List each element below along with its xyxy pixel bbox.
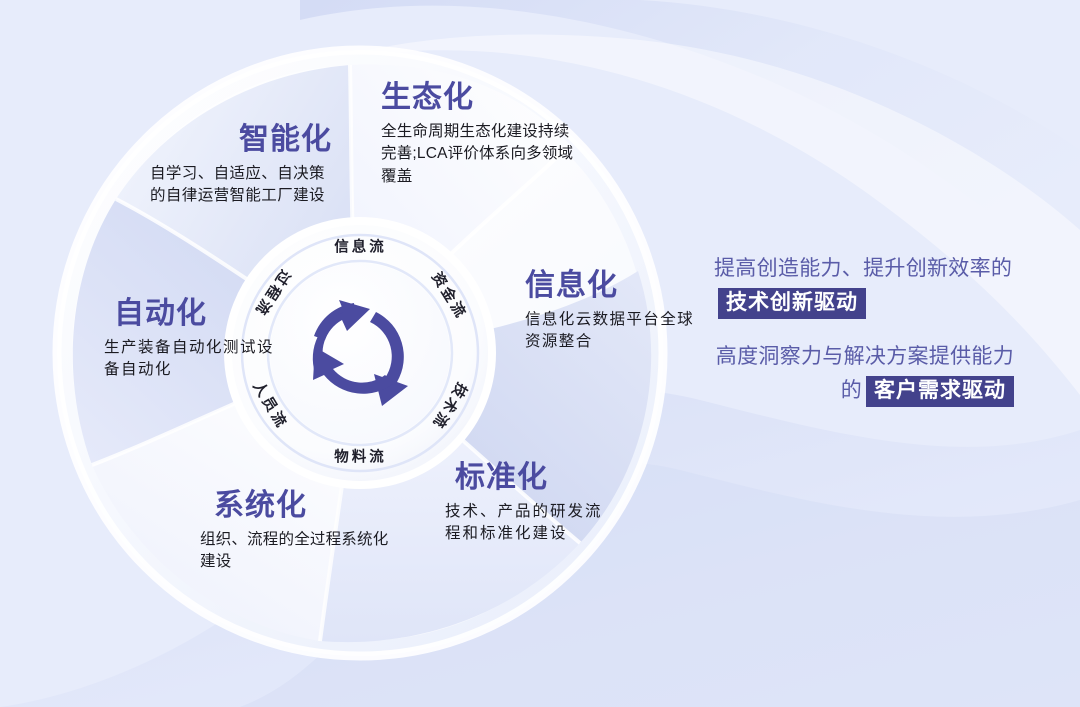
statement-customer-drive: 高度洞察力与解决方案提供能力的客户需求驱动 [714, 340, 1014, 408]
segment-title-xinxihua: 信息化 [525, 270, 710, 302]
segment-label-biaozhunhua[interactable]: 标准化 技术、产品的研发流程和标准化建设 [445, 462, 615, 546]
right-statements-panel: 提高创造能力、提升创新效率的技术创新驱动 高度洞察力与解决方案提供能力的客户需求… [714, 252, 1014, 408]
segment-desc-zhinenghua: 自学习、自适应、自决策的自律运营智能工厂建设 [150, 163, 340, 209]
segment-desc-xinxihua: 信息化云数据平台全球资源整合 [525, 309, 710, 355]
segment-title-shengtaihua: 生态化 [381, 82, 577, 114]
segment-desc-zidonghua: 生产装备自动化测试设备自动化 [104, 337, 280, 383]
badge-tech-innovation-drive[interactable]: 技术创新驱动 [718, 288, 866, 319]
segment-title-biaozhunhua: 标准化 [445, 462, 615, 494]
segment-label-zidonghua[interactable]: 自动化 生产装备自动化测试设备自动化 [104, 298, 280, 382]
segment-label-xinxihua[interactable]: 信息化 信息化云数据平台全球资源整合 [525, 270, 710, 354]
statement-lead-tech: 提高创造能力、提升创新效率的 [714, 257, 1012, 280]
segment-title-zidonghua: 自动化 [104, 298, 280, 330]
segment-label-xitonghua[interactable]: 系统化 组织、流程的全过程系统化建设 [200, 490, 400, 574]
segment-title-zhinenghua: 智能化 [150, 124, 340, 156]
segment-title-xitonghua: 系统化 [200, 490, 400, 522]
statement-tech-drive: 提高创造能力、提升创新效率的技术创新驱动 [714, 252, 1014, 320]
segment-desc-biaozhunhua: 技术、产品的研发流程和标准化建设 [445, 501, 615, 547]
diagram-canvas: 信息流 资金流 技术流 物料流 人员流 过程流 生态化 全生命周期生态化建设持续… [0, 0, 1080, 707]
segment-desc-xitonghua: 组织、流程的全过程系统化建设 [200, 529, 400, 575]
segment-label-zhinenghua[interactable]: 智能化 自学习、自适应、自决策的自律运营智能工厂建设 [150, 124, 340, 208]
segment-label-shengtaihua[interactable]: 生态化 全生命周期生态化建设持续完善;LCA评价体系向多领域覆盖 [381, 82, 577, 189]
badge-customer-demand-drive[interactable]: 客户需求驱动 [866, 376, 1014, 407]
segment-desc-shengtaihua: 全生命周期生态化建设持续完善;LCA评价体系向多领域覆盖 [381, 121, 577, 190]
